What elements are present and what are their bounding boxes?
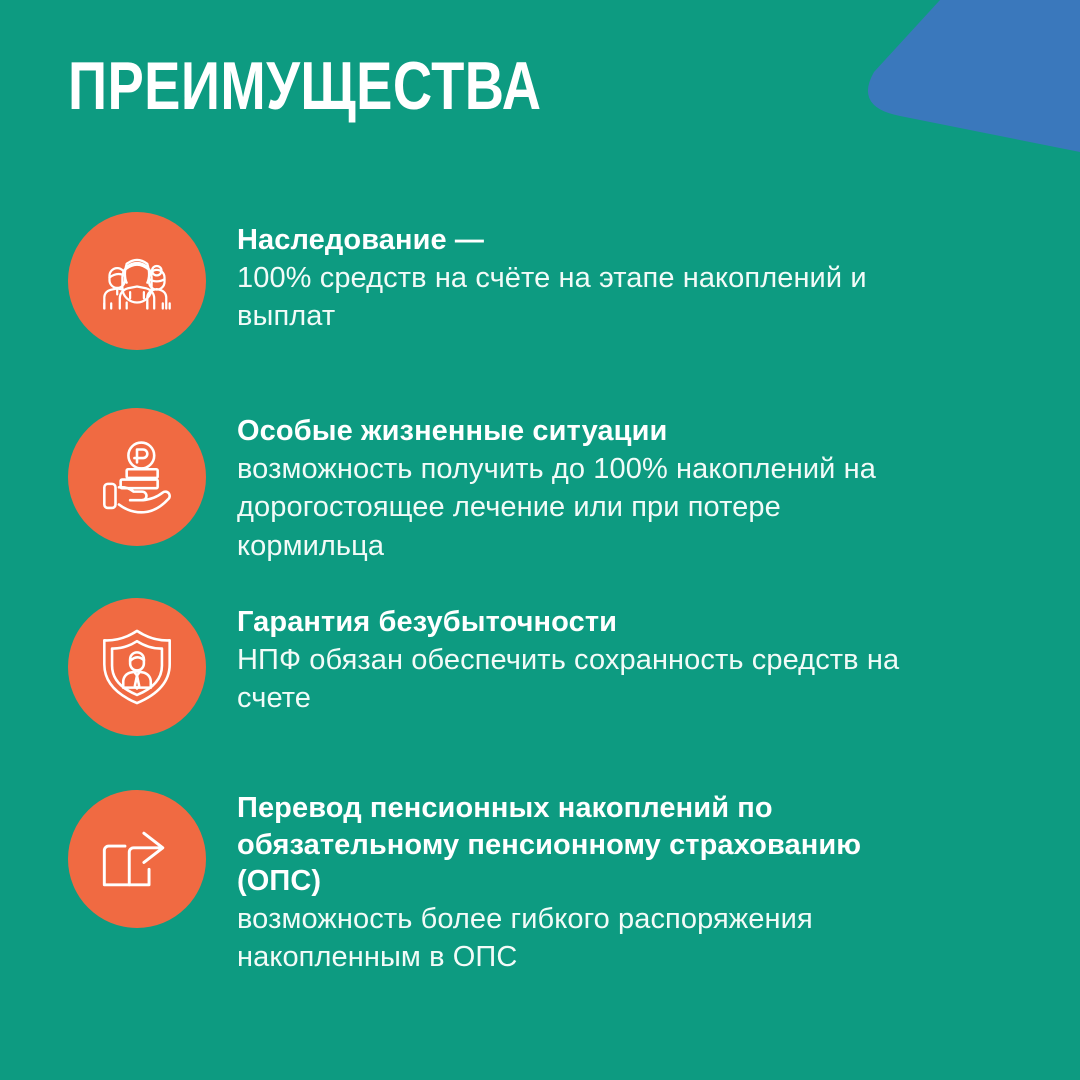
family-group-icon xyxy=(94,238,180,324)
benefits-poster: ПРЕИМУЩЕСТВА xyxy=(0,0,1080,1080)
benefit-icon-badge xyxy=(68,408,206,546)
export-arrow-icon xyxy=(94,816,180,902)
list-item: Наследование — 100% средств на счёте на … xyxy=(0,212,1080,350)
benefit-body: возможность более гибкого распоряжения н… xyxy=(237,900,900,977)
benefit-body: 100% средств на счёте на этапе накоплени… xyxy=(237,259,900,336)
hand-with-ruble-coins-icon xyxy=(94,434,180,520)
benefit-heading: Особые жизненные ситуации xyxy=(237,413,900,450)
benefit-heading: Гарантия безубыточности xyxy=(237,604,900,641)
benefit-icon-badge xyxy=(68,790,206,928)
benefit-heading: Перевод пенсионных накоплений по обязате… xyxy=(237,790,900,900)
benefit-text: Гарантия безубыточности НПФ обязан обесп… xyxy=(237,598,1080,718)
list-item: Особые жизненные ситуации возможность по… xyxy=(0,408,1080,565)
benefit-text: Особые жизненные ситуации возможность по… xyxy=(237,408,1080,565)
shield-with-person-icon xyxy=(94,624,180,710)
benefit-body: НПФ обязан обеспечить сохранность средст… xyxy=(237,641,900,718)
benefit-text: Перевод пенсионных накоплений по обязате… xyxy=(237,790,1080,977)
benefit-icon-badge xyxy=(68,212,206,350)
page-title: ПРЕИМУЩЕСТВА xyxy=(68,52,541,120)
list-item: Гарантия безубыточности НПФ обязан обесп… xyxy=(0,598,1080,736)
benefit-icon-badge xyxy=(68,598,206,736)
benefit-body: возможность получить до 100% накоплений … xyxy=(237,450,900,566)
benefit-heading: Наследование — xyxy=(237,222,900,259)
list-item: Перевод пенсионных накоплений по обязате… xyxy=(0,790,1080,977)
benefit-text: Наследование — 100% средств на счёте на … xyxy=(237,212,1080,336)
